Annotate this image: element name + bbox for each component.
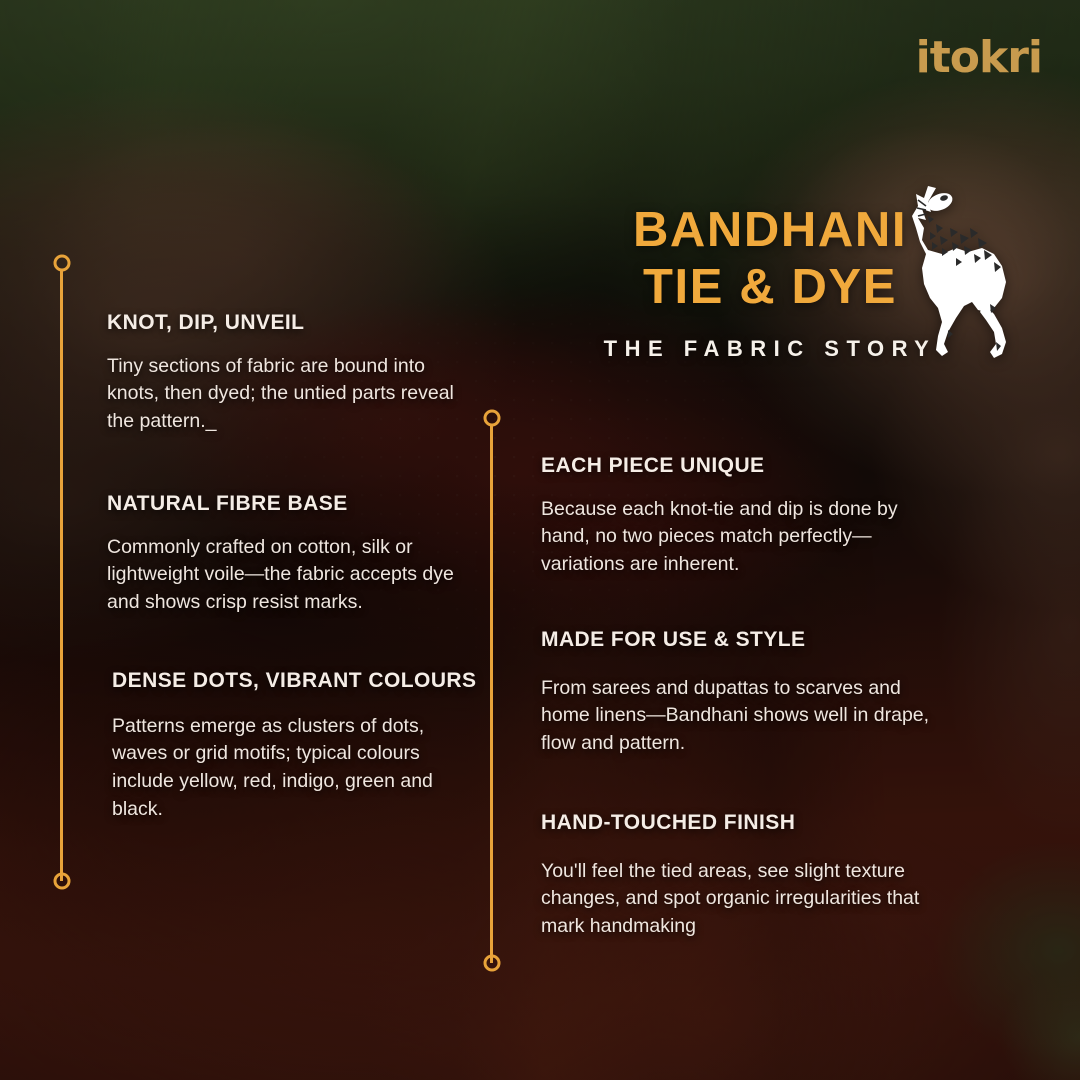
block-heading: NATURAL FIBRE BASE (107, 491, 467, 517)
middle-timeline-rail (490, 426, 493, 963)
block-natural-fibre-base: NATURAL FIBRE BASE Commonly crafted on c… (107, 491, 467, 617)
block-heading: HAND-TOUCHED FINISH (541, 810, 949, 836)
block-heading: DENSE DOTS, VIBRANT COLOURS (112, 668, 480, 694)
block-heading: MADE FOR USE & STYLE (541, 627, 941, 653)
left-rail-bottom-node (53, 873, 70, 890)
block-each-piece-unique: EACH PIECE UNIQUE Because each knot-tie … (541, 453, 941, 579)
block-body: From sarees and dupattas to scarves and … (541, 675, 941, 758)
block-knot-dip-unveil: KNOT, DIP, UNVEIL Tiny sections of fabri… (107, 310, 467, 436)
block-heading: KNOT, DIP, UNVEIL (107, 310, 467, 336)
left-rail-top-node (53, 255, 70, 272)
block-dense-dots-vibrant-colours: DENSE DOTS, VIBRANT COLOURS Patterns eme… (112, 668, 480, 823)
block-body: Because each knot-tie and dip is done by… (541, 496, 941, 579)
block-heading: EACH PIECE UNIQUE (541, 453, 941, 479)
block-body: Commonly crafted on cotton, silk or ligh… (107, 534, 467, 617)
infographic-poster: itokri BANDHANI TIE & DYE THE FABRIC STO… (0, 0, 1080, 1080)
brand-logo[interactable]: itokri (916, 36, 1042, 80)
cow-illustration-icon (898, 182, 1016, 360)
left-timeline-rail (60, 271, 63, 881)
middle-rail-bottom-node (483, 955, 500, 972)
block-body: Patterns emerge as clusters of dots, wav… (112, 713, 480, 824)
middle-rail-top-node (483, 410, 500, 427)
block-body: You'll feel the tied areas, see slight t… (541, 858, 949, 941)
block-body: Tiny sections of fabric are bound into k… (107, 353, 467, 436)
block-made-for-use-and-style: MADE FOR USE & STYLE From sarees and dup… (541, 627, 941, 758)
poster-content: itokri BANDHANI TIE & DYE THE FABRIC STO… (0, 0, 1080, 1080)
block-hand-touched-finish: HAND-TOUCHED FINISH You'll feel the tied… (541, 810, 949, 941)
